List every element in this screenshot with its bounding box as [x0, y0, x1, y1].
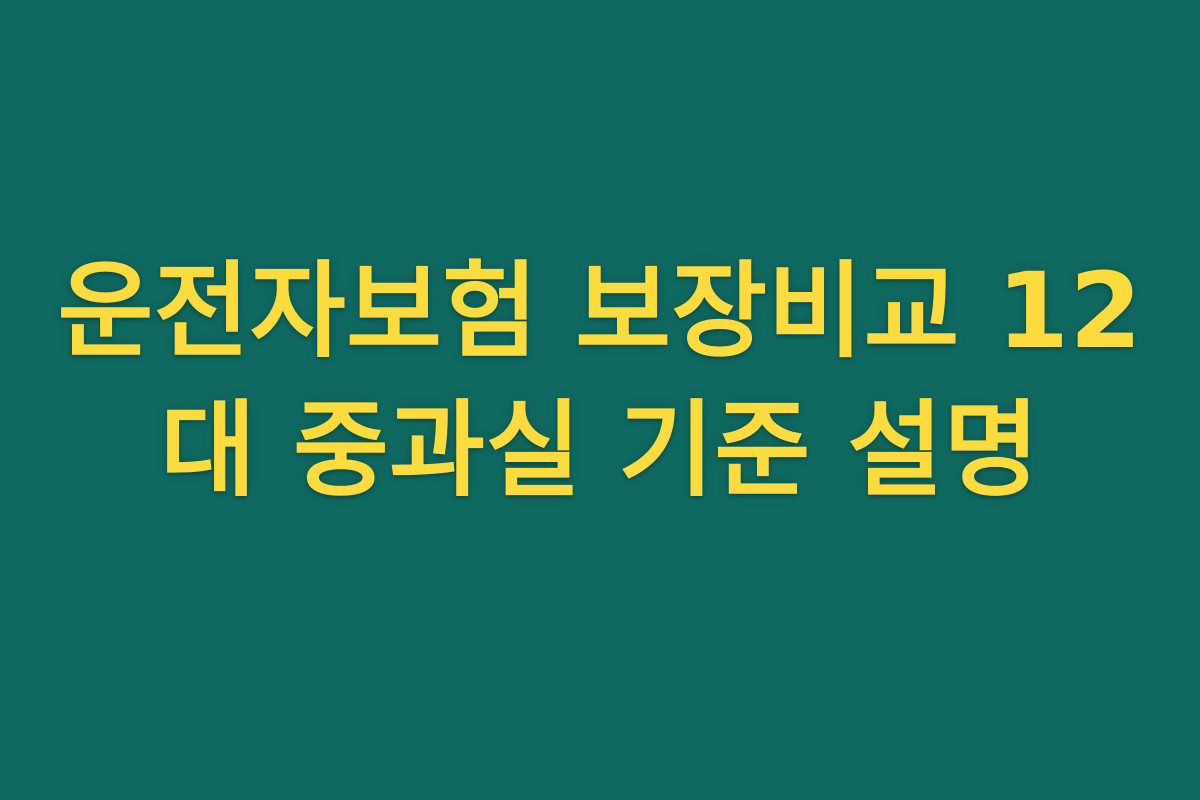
thumbnail-canvas: 운전자보험 보장비교 12 대 중과실 기준 설명: [0, 0, 1200, 800]
title-line-1: 운전자보험 보장비교 12: [58, 244, 1143, 379]
title-block: 운전자보험 보장비교 12 대 중과실 기준 설명: [50, 244, 1150, 556]
title-line-2: 대 중과실 기준 설명: [160, 383, 1040, 518]
